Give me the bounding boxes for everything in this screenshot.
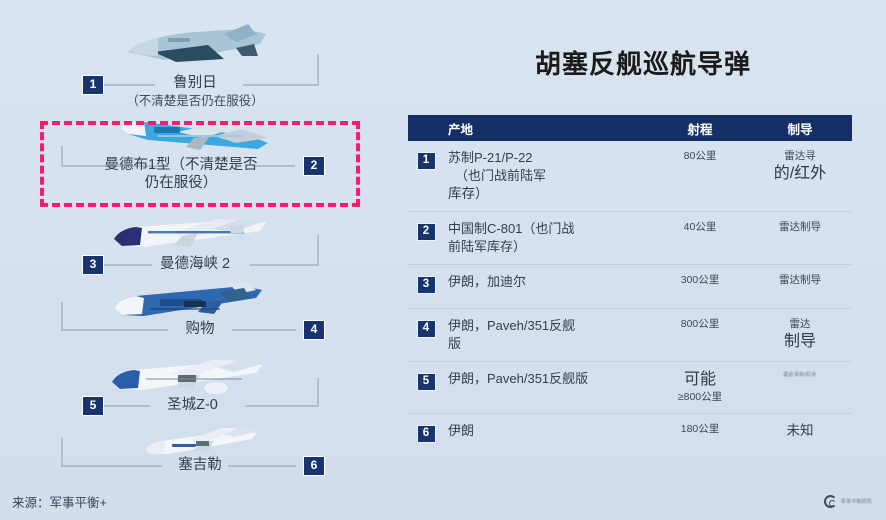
cell-guidance-2: 雷达制导: [748, 220, 852, 235]
table-panel: 胡塞反舰巡航导弹 产地 射程 制导 1 苏制P-21/P-22 （也门战前陆军 …: [400, 0, 886, 520]
diagram-label-3: 曼德海峡 2: [120, 256, 270, 273]
missile-item-5: 5 圣城Z-0: [0, 358, 400, 434]
range-value: 80公里: [652, 149, 748, 164]
cell-origin-5: 伊朗，Paveh/351反舰版: [444, 370, 652, 388]
missile-item-4: 4 购物: [0, 284, 400, 360]
origin-line-1: 中国制C-801（也门战: [448, 220, 652, 238]
missile-illustration-6: [142, 426, 262, 458]
range-value: 300公里: [652, 273, 748, 288]
diagram-label-1-text: 鲁别日: [173, 75, 217, 91]
diagram-label-4-text: 购物: [186, 321, 215, 337]
origin-line-1: 苏制P-21/P-22: [448, 149, 652, 167]
infographic-root: 1 鲁别日 （不清楚是否仍在服役） 2 曼德布1: [0, 0, 886, 520]
diagram-label-6-text: 塞吉勒: [178, 457, 222, 473]
origin-line-1: 伊朗，Paveh/351反舰版: [448, 370, 652, 388]
guidance-line-1: 雷达: [748, 317, 852, 332]
origin-line-1: 伊朗: [448, 422, 652, 440]
diagram-sublabel-1: （不清楚是否仍在服役）: [120, 93, 270, 110]
table-header-row: 产地 射程 制导: [408, 115, 852, 141]
table-header-origin: 产地: [444, 119, 652, 138]
table-row: 1 苏制P-21/P-22 （也门战前陆军 库存） 80公里 雷达寻 的/红外: [408, 141, 852, 212]
cell-origin-1: 苏制P-21/P-22 （也门战前陆军 库存）: [444, 149, 652, 203]
diagram-badge-1[interactable]: 1: [82, 75, 104, 95]
missile-item-3: 3 曼德海峡 2: [0, 213, 400, 289]
diagram-badge-3[interactable]: 3: [82, 255, 104, 275]
diagram-label-5-text: 圣城Z-0: [167, 397, 218, 413]
cell-origin-4: 伊朗，Paveh/351反舰 版: [444, 317, 652, 353]
table-header-guidance: 制导: [748, 119, 852, 138]
guidance-line-1: 雷达寻: [748, 149, 852, 164]
table-badge-3[interactable]: 3: [417, 276, 436, 294]
source-note: 来源：军事平衡+: [12, 492, 107, 511]
range-value: 800公里: [652, 317, 748, 332]
origin-line-2: 版: [448, 335, 652, 353]
missile-illustration-2: [118, 116, 278, 156]
publisher-logo: 军事平衡研究: [824, 495, 872, 508]
cell-range-4: 800公里: [652, 317, 748, 332]
diagram-label-2-text: 曼德布1型（不清楚是否仍在服役）: [104, 157, 257, 191]
table-row: 4 伊朗，Paveh/351反舰 版 800公里 雷达 制导: [408, 309, 852, 362]
page-title: 胡塞反舰巡航导弹: [400, 44, 886, 81]
logo-mark-icon: [824, 495, 837, 508]
cell-range-1: 80公里: [652, 149, 748, 164]
diagram-label-2: 曼德布1型（不清楚是否仍在服役）: [102, 156, 260, 192]
cell-guidance-4: 雷达 制导: [748, 317, 852, 352]
table-badge-1[interactable]: 1: [417, 152, 436, 170]
table-badge-4[interactable]: 4: [417, 320, 436, 338]
guidance-line-1: 雷达寻的/红外: [748, 370, 852, 380]
cell-guidance-1: 雷达寻 的/红外: [748, 149, 852, 184]
range-value: 可能: [652, 370, 748, 390]
diagram-badge-6[interactable]: 6: [303, 456, 325, 476]
origin-line-1: 伊朗，加迪尔: [448, 273, 652, 291]
origin-line-2: 前陆军库存）: [448, 238, 652, 256]
diagram-label-6: 塞吉勒: [156, 457, 244, 474]
range-value-line2: ≥800公里: [652, 390, 748, 405]
cell-range-3: 300公里: [652, 273, 748, 288]
table-row: 5 伊朗，Paveh/351反舰版 可能 ≥800公里 雷达寻的/红外: [408, 362, 852, 414]
diagram-label-5: 圣城Z-0: [120, 397, 265, 414]
diagram-badge-4[interactable]: 4: [303, 320, 325, 340]
cell-range-5: 可能 ≥800公里: [652, 370, 748, 405]
guidance-line-1: 雷达制导: [748, 220, 852, 235]
missile-item-2: 2 曼德布1型（不清楚是否仍在服役）: [0, 118, 400, 194]
cell-origin-2: 中国制C-801（也门战 前陆军库存）: [444, 220, 652, 256]
missile-diagram-panel: 1 鲁别日 （不清楚是否仍在服役） 2 曼德布1: [0, 0, 400, 520]
diagram-label-4: 购物: [160, 321, 240, 338]
origin-line-3: 库存）: [448, 185, 652, 203]
cell-guidance-6: 未知: [748, 422, 852, 440]
cell-origin-6: 伊朗: [444, 422, 652, 440]
guidance-line-1: 未知: [748, 422, 852, 440]
missile-specs-table: 产地 射程 制导 1 苏制P-21/P-22 （也门战前陆军 库存） 80公里: [408, 115, 852, 454]
cell-origin-3: 伊朗，加迪尔: [444, 273, 652, 291]
missile-illustration-3: [110, 217, 270, 257]
table-row: 2 中国制C-801（也门战 前陆军库存） 40公里 雷达制导: [408, 212, 852, 265]
guidance-line-2: 制导: [748, 332, 852, 352]
table-badge-5[interactable]: 5: [417, 373, 436, 391]
diagram-label-3-text: 曼德海峡 2: [160, 256, 230, 272]
missile-illustration-5: [108, 358, 268, 402]
table-row: 6 伊朗 180公里 未知: [408, 414, 852, 454]
cell-guidance-3: 雷达制导: [748, 273, 852, 288]
missile-item-1: 1 鲁别日 （不清楚是否仍在服役）: [0, 18, 400, 94]
cell-range-6: 180公里: [652, 422, 748, 437]
cell-range-2: 40公里: [652, 220, 748, 235]
diagram-badge-2[interactable]: 2: [303, 156, 325, 176]
diagram-label-1: 鲁别日 （不清楚是否仍在服役）: [120, 75, 270, 110]
table-row: 3 伊朗，加迪尔 300公里 雷达制导: [408, 265, 852, 309]
logo-text: 军事平衡研究: [841, 498, 872, 505]
cell-guidance-5: 雷达寻的/红外: [748, 370, 852, 380]
guidance-line-2: 的/红外: [748, 164, 852, 184]
missile-illustration-4: [110, 282, 270, 326]
origin-line-1: 伊朗，Paveh/351反舰: [448, 317, 652, 335]
range-value: 180公里: [652, 422, 748, 437]
range-value: 40公里: [652, 220, 748, 235]
guidance-line-1: 雷达制导: [748, 273, 852, 288]
table-badge-2[interactable]: 2: [417, 223, 436, 241]
missile-item-6: 6 塞吉勒: [0, 424, 400, 500]
table-header-range: 射程: [652, 119, 748, 138]
diagram-badge-5[interactable]: 5: [82, 396, 104, 416]
origin-line-2: （也门战前陆军: [448, 167, 652, 185]
missile-illustration-1: [124, 22, 274, 72]
table-badge-6[interactable]: 6: [417, 425, 436, 443]
